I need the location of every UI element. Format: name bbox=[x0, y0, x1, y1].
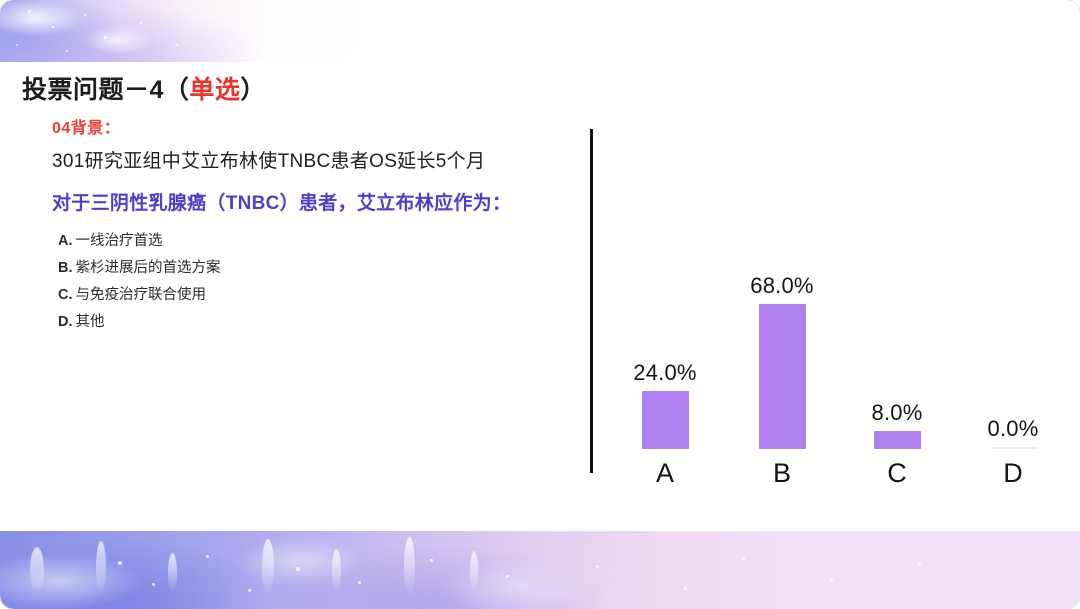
bar-a[interactable] bbox=[642, 391, 689, 449]
top-left-watercolor-decoration bbox=[0, 0, 470, 62]
poll-slide: 投票问题－4（单选） 04背景： 301研究亚组中艾立布林使TNBC患者OS延长… bbox=[0, 0, 1080, 609]
bar-slot-a: 24.0% A bbox=[609, 126, 721, 491]
bar-value-b: 68.0% bbox=[750, 273, 813, 299]
bar-group-c: 8.0% bbox=[841, 159, 953, 449]
chart-plot-area: 24.0% A 68.0% B 8.0% bbox=[609, 126, 1055, 491]
chart-y-axis bbox=[590, 129, 593, 473]
bar-label-c: C bbox=[841, 458, 953, 489]
poll-results-bar-chart: 24.0% A 68.0% B 8.0% bbox=[585, 126, 1055, 491]
bar-group-a: 24.0% bbox=[609, 159, 721, 449]
option-a[interactable]: A.一线治疗首选 bbox=[58, 228, 221, 255]
option-a-key: A. bbox=[58, 233, 73, 249]
option-list: A.一线治疗首选 B.紫杉进展后的首选方案 C.与免疫治疗联合使用 D.其他 bbox=[58, 228, 221, 336]
background-statement: 301研究亚组中艾立布林使TNBC患者OS延长5个月 bbox=[52, 146, 485, 173]
option-d-key: D. bbox=[58, 314, 73, 330]
option-c-label: 与免疫治疗联合使用 bbox=[76, 287, 207, 303]
bar-label-a: A bbox=[609, 458, 721, 489]
bar-slot-b: 68.0% B bbox=[726, 126, 838, 491]
bar-c[interactable] bbox=[874, 431, 921, 449]
bottom-watercolor-decoration bbox=[0, 531, 1080, 609]
bar-slot-c: 8.0% C bbox=[841, 126, 953, 491]
bar-slot-d: 0.0% D bbox=[957, 126, 1069, 491]
bar-label-b: B bbox=[726, 458, 838, 489]
option-b[interactable]: B.紫杉进展后的首选方案 bbox=[58, 255, 221, 282]
page-title-main: 投票问题－4（ bbox=[22, 76, 189, 104]
option-c[interactable]: C.与免疫治疗联合使用 bbox=[58, 282, 221, 309]
page-title: 投票问题－4（单选） bbox=[22, 70, 266, 106]
bar-value-d: 0.0% bbox=[988, 416, 1039, 442]
option-b-label: 紫杉进展后的首选方案 bbox=[76, 260, 221, 276]
background-label: 04背景： bbox=[52, 114, 120, 138]
option-b-key: B. bbox=[58, 260, 73, 276]
option-a-label: 一线治疗首选 bbox=[76, 233, 163, 249]
bar-group-b: 68.0% bbox=[726, 159, 838, 449]
option-d[interactable]: D.其他 bbox=[58, 309, 221, 336]
question-text: 对于三阴性乳腺癌（TNBC）患者，艾立布林应作为： bbox=[52, 188, 511, 215]
page-title-tail: ） bbox=[240, 76, 266, 104]
bar-value-c: 8.0% bbox=[872, 400, 923, 426]
bar-b[interactable] bbox=[759, 304, 806, 449]
bar-value-a: 24.0% bbox=[633, 360, 696, 386]
option-d-label: 其他 bbox=[76, 314, 105, 330]
option-c-key: C. bbox=[58, 287, 73, 303]
page-title-accent: 单选 bbox=[189, 76, 240, 104]
bar-d[interactable] bbox=[990, 447, 1037, 449]
bar-label-d: D bbox=[957, 458, 1069, 489]
bar-group-d: 0.0% bbox=[957, 159, 1069, 449]
